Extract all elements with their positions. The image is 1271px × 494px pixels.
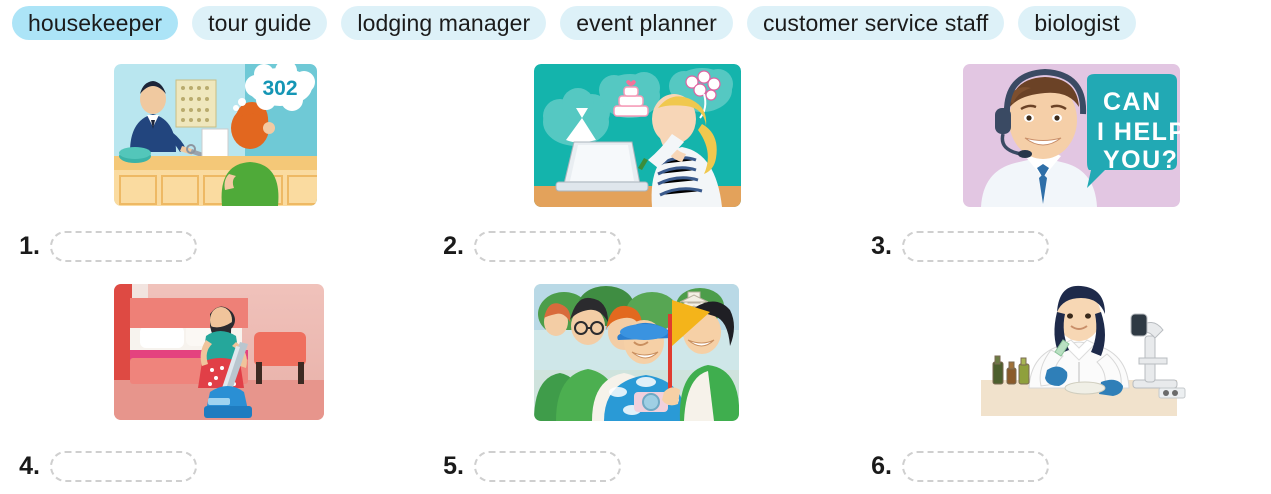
answer-line-4: 4. — [0, 444, 430, 488]
word-chip-label: lodging manager — [357, 10, 530, 37]
item-number: 6. — [858, 454, 892, 479]
exercise-item-4: 4. — [0, 278, 424, 494]
item-number: 3. — [858, 234, 892, 259]
word-chip-lodging-manager[interactable]: lodging manager — [341, 6, 546, 40]
answer-line-6: 6. — [848, 444, 1271, 488]
word-chip-label: biologist — [1034, 10, 1119, 37]
housekeeper-vacuuming-picture — [114, 284, 324, 420]
hotel-reception-picture: 302 — [114, 64, 317, 206]
exercise-item-2: 2. — [424, 58, 848, 274]
answer-line-3: 3. — [848, 224, 1271, 268]
answer-blank-4[interactable] — [50, 451, 197, 482]
item-number: 4. — [6, 454, 40, 479]
word-chip-biologist[interactable]: biologist — [1018, 6, 1135, 40]
answer-line-5: 5. — [424, 444, 854, 488]
item-number: 2. — [430, 234, 464, 259]
word-chip-event-planner[interactable]: event planner — [560, 6, 733, 40]
answer-blank-1[interactable] — [50, 231, 197, 262]
answer-blank-2[interactable] — [474, 231, 621, 262]
word-chip-housekeeper[interactable]: housekeeper — [12, 6, 178, 40]
word-chip-label: customer service staff — [763, 10, 988, 37]
word-chip-label: tour guide — [208, 10, 311, 37]
wedding-planner-picture — [534, 64, 741, 207]
word-chip-label: housekeeper — [28, 10, 162, 37]
answer-blank-3[interactable] — [902, 231, 1049, 262]
svg-text:YOU?: YOU? — [1103, 146, 1178, 174]
word-chip-tour-guide[interactable]: tour guide — [192, 6, 327, 40]
answer-line-1: 1. — [0, 224, 430, 268]
item-number: 5. — [430, 454, 464, 479]
exercise-item-3: CAN I HELP YOU? 3. — [848, 58, 1271, 274]
picture-slot — [848, 284, 1271, 434]
word-chip-label: event planner — [576, 10, 717, 37]
answer-blank-6[interactable] — [902, 451, 1049, 482]
answer-blank-5[interactable] — [474, 451, 621, 482]
tour-guide-picture — [534, 284, 739, 421]
exercise-item-5: 5. — [424, 278, 848, 494]
biologist-lab-picture — [963, 284, 1193, 424]
call-center-agent-picture: CAN I HELP YOU? — [963, 64, 1180, 207]
svg-text:I HELP: I HELP — [1097, 118, 1180, 146]
svg-text:CAN: CAN — [1103, 88, 1162, 116]
exercise-item-6: 6. — [848, 278, 1271, 494]
word-chip-customer-service-staff[interactable]: customer service staff — [747, 6, 1004, 40]
answer-line-2: 2. — [424, 224, 854, 268]
picture-slot: CAN I HELP YOU? — [848, 64, 1271, 214]
item-number: 1. — [6, 234, 40, 259]
exercise-item-1: 302 1. — [0, 58, 424, 274]
room-number-text: 302 — [262, 77, 297, 100]
word-bank: housekeeper tour guide lodging manager e… — [0, 0, 1271, 46]
